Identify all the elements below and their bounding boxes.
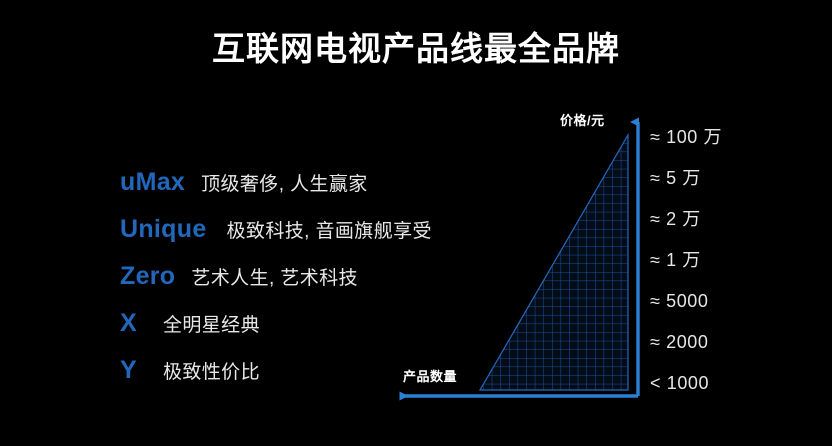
brand-name: Unique [120, 215, 207, 244]
tick-label: < 1000 [650, 363, 825, 404]
brand-description: 艺术人生, 艺术科技 [191, 263, 358, 290]
brand-name: X [120, 309, 137, 338]
y-axis-label: 价格/元 [560, 110, 605, 129]
tick-label: ≈ 5000 [650, 281, 825, 322]
tick-label: ≈ 2 万 [650, 199, 825, 240]
price-tick-list: ≈ 100 万 ≈ 5 万 ≈ 2 万 ≈ 1 万 ≈ 5000 ≈ 2000 … [650, 117, 825, 404]
tick-label: ≈ 2000 [650, 322, 825, 363]
brand-description: 极致性价比 [163, 357, 260, 384]
page-title: 互联网电视产品线最全品牌 [0, 29, 832, 69]
brand-description: 顶级奢侈, 人生赢家 [201, 169, 368, 196]
tick-label: ≈ 5 万 [650, 158, 825, 199]
tick-label: ≈ 1 万 [650, 240, 825, 281]
brand-name: Y [120, 356, 137, 385]
tick-label: ≈ 100 万 [650, 117, 825, 158]
triangle-grid [470, 130, 640, 395]
brand-description: 全明星经典 [163, 310, 260, 337]
brand-name: uMax [120, 168, 185, 197]
slide-root: 互联网电视产品线最全品牌 uMax 顶级奢侈, 人生赢家 Unique 极致科技… [0, 0, 832, 446]
brand-name: Zero [120, 262, 175, 291]
x-axis-label: 产品数量 [403, 366, 457, 385]
